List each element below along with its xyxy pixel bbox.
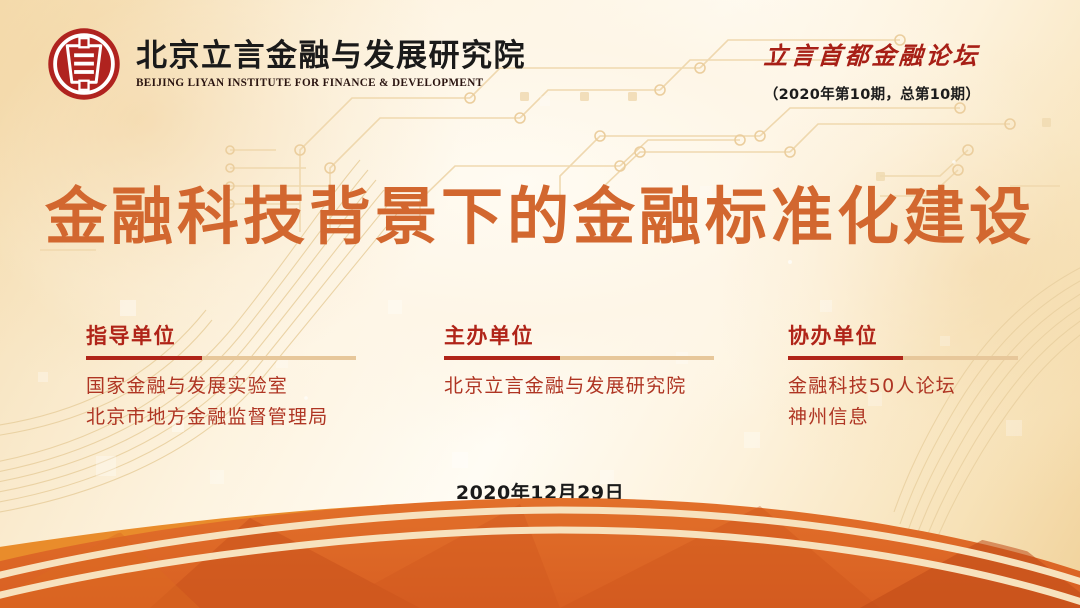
organizer-heading-rule: [444, 356, 714, 360]
organizer-items: 北京立言金融与发展研究院: [444, 371, 714, 402]
institute-logo-text: 北京立言金融与发展研究院 BEIJING LIYAN INSTITUTE FOR…: [136, 39, 526, 89]
forum-name: 立言首都金融论坛: [721, 36, 1023, 71]
organizer-heading: 主办单位: [444, 326, 714, 347]
organizer-column-cohost: 协办单位 金融科技50人论坛 神州信息: [788, 326, 1018, 433]
poster-main-title: 金融科技背景下的金融标准化建设: [0, 186, 1080, 248]
organizer-items: 国家金融与发展实验室 北京市地方金融监督管理局: [86, 371, 356, 433]
organizer-heading-rule: [86, 356, 356, 360]
organizer-heading: 指导单位: [86, 326, 356, 347]
forum-branding-block: 立言首都金融论坛 （2020年第10期，总第10期）: [722, 36, 1022, 104]
organizer-item: 神州信息: [788, 402, 1018, 433]
liyan-seal-logo-icon: [46, 26, 122, 102]
forum-issue-number: （2020年第10期，总第10期）: [722, 83, 1022, 104]
poster-header: 北京立言金融与发展研究院 BEIJING LIYAN INSTITUTE FOR…: [0, 0, 1080, 130]
institute-name-en: BEIJING LIYAN INSTITUTE FOR FINANCE & DE…: [136, 77, 526, 89]
forum-poster: 北京立言金融与发展研究院 BEIJING LIYAN INSTITUTE FOR…: [0, 0, 1080, 608]
organizers-section: 指导单位 国家金融与发展实验室 北京市地方金融监督管理局 主办单位 北京立言金融…: [0, 326, 1080, 446]
organizer-item: 国家金融与发展实验室: [86, 371, 356, 402]
organizer-column-host: 主办单位 北京立言金融与发展研究院: [444, 326, 714, 402]
bottom-wave-decoration: [0, 488, 1080, 608]
organizer-item: 金融科技50人论坛: [788, 371, 1018, 402]
organizer-items: 金融科技50人论坛 神州信息: [788, 371, 1018, 433]
institute-name-cn: 北京立言金融与发展研究院: [136, 39, 526, 74]
institute-logo-block: 北京立言金融与发展研究院 BEIJING LIYAN INSTITUTE FOR…: [46, 26, 526, 102]
organizer-column-guidance: 指导单位 国家金融与发展实验室 北京市地方金融监督管理局: [86, 326, 356, 433]
organizer-heading: 协办单位: [788, 326, 1018, 347]
organizer-item: 北京立言金融与发展研究院: [444, 371, 714, 402]
organizer-item: 北京市地方金融监督管理局: [86, 402, 356, 433]
organizer-heading-rule: [788, 356, 1018, 360]
